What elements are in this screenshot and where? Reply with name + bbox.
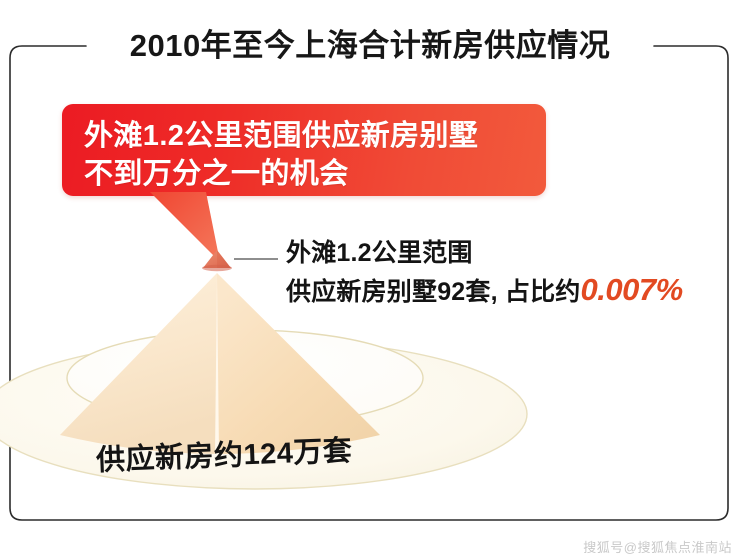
annotation-line-2: 供应新房别墅92套, 占比约0.007% [286,273,736,309]
pyramid-tip-base-shadow [202,265,232,271]
callout-bubble: 外滩1.2公里范围供应新房别墅 不到万分之一的机会 [62,104,546,196]
annotation-leader-line [234,258,278,260]
sohu-watermark: 搜狐号@搜狐焦点淮南站 [583,537,732,556]
infographic-canvas: 2010年至今上海合计新房供应情况 外滩1.2公里范围供应新房别墅 不到万分之一… [0,0,740,560]
annotation-block: 外滩1.2公里范围 供应新房别墅92套, 占比约0.007% [286,236,736,309]
callout-line-2: 不到万分之一的机会 [84,150,349,192]
annotation-percent-value: 0.007% [581,272,683,307]
annotation-line-2-prefix: 供应新房别墅92套, 占比约 [286,278,581,306]
annotation-line-1: 外滩1.2公里范围 [286,236,736,270]
callout-line-1: 外滩1.2公里范围供应新房别墅 [84,112,478,154]
page-title: 2010年至今上海合计新房供应情况 [0,26,740,66]
